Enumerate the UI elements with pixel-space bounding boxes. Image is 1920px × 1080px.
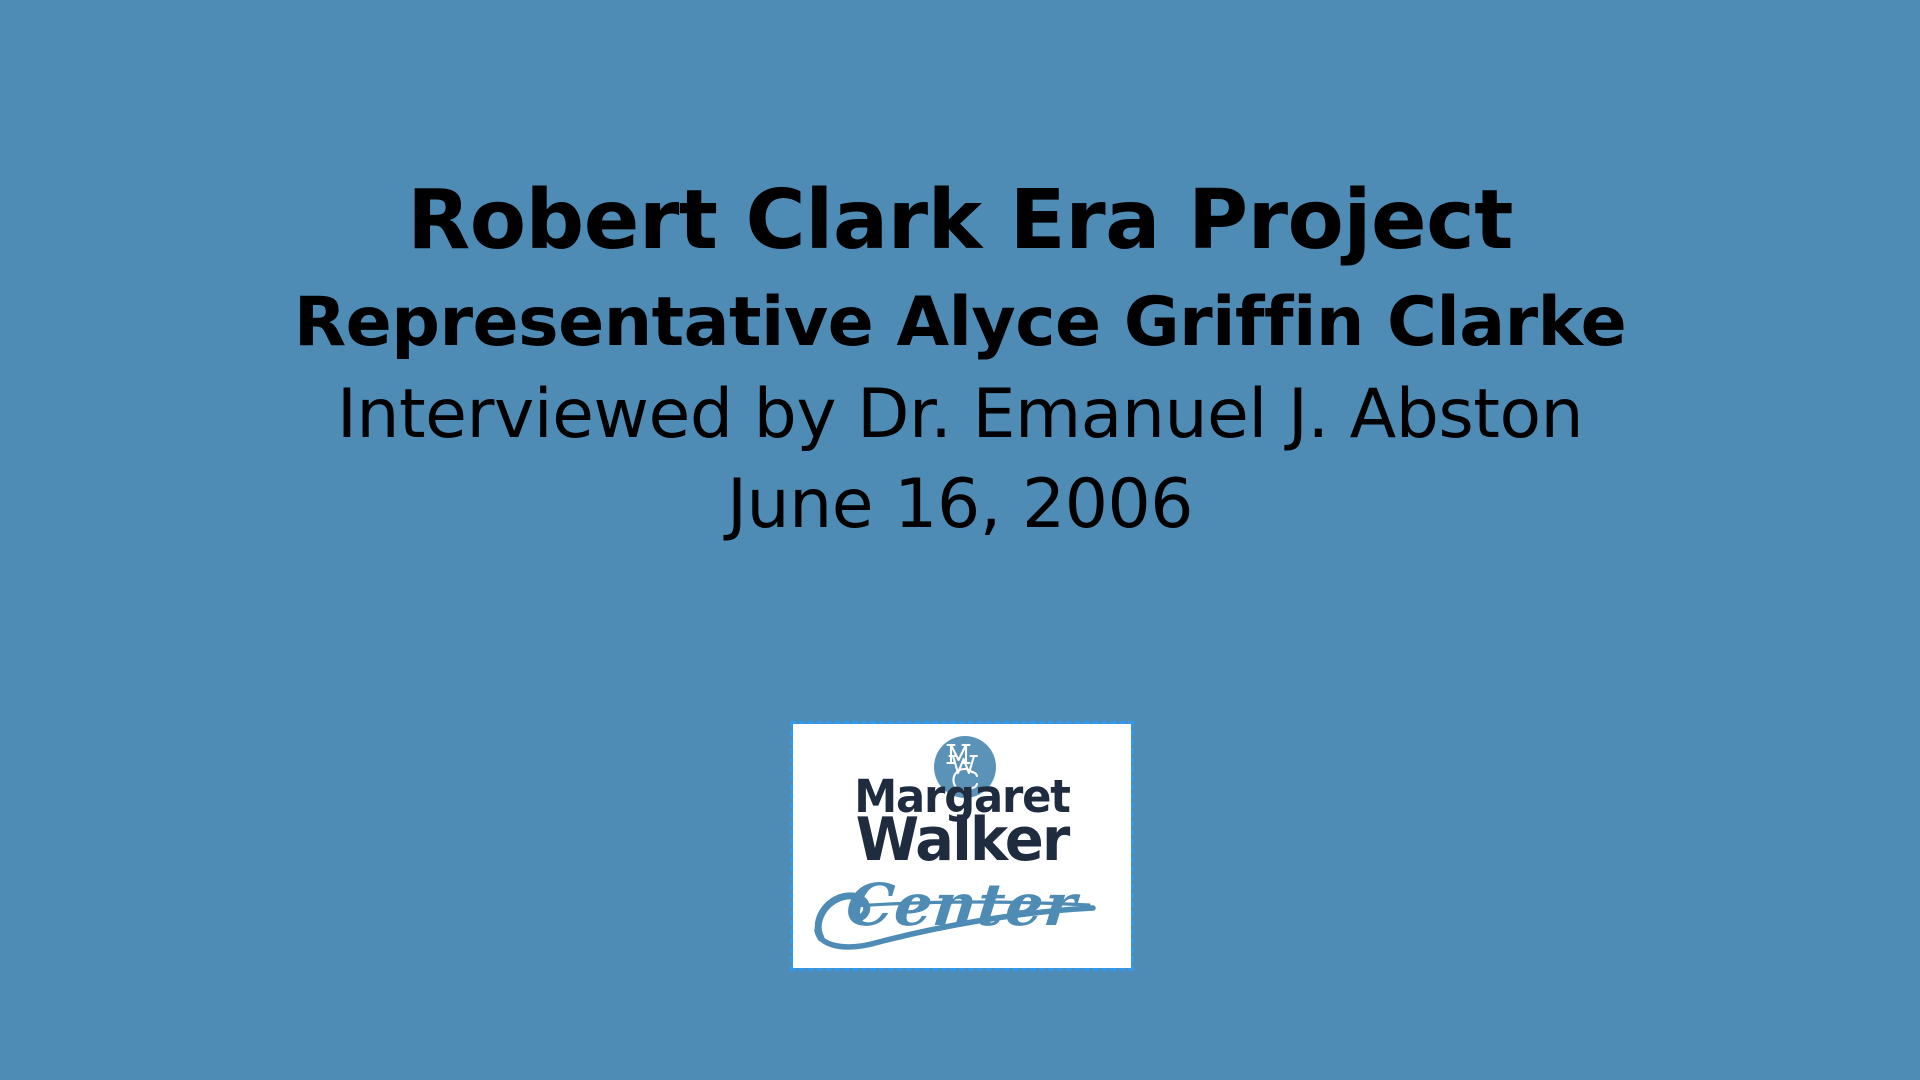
logo-word-walker: Walker [800,813,1124,868]
page-title: Robert Clark Era Project [0,178,1920,265]
interview-subject: Representative Alyce Griffin Clarke [0,287,1920,359]
interview-date: June 16, 2006 [0,469,1920,541]
title-slide: Robert Clark Era Project Representative … [0,0,1920,1080]
logo-word-center-wrap: Center [793,876,1131,934]
interviewer-credit: Interviewed by Dr. Emanuel J. Abston [0,379,1920,451]
title-text-block: Robert Clark Era Project Representative … [0,0,1920,541]
logo-word-center: Center [844,876,1080,934]
logo-canvas: Margaret Walker Center [793,724,1131,968]
logo-script-flourish-icon [793,872,1131,958]
logo-wordmark: Margaret Walker [793,776,1131,869]
margaret-walker-center-logo[interactable]: Margaret Walker Center [793,724,1131,968]
